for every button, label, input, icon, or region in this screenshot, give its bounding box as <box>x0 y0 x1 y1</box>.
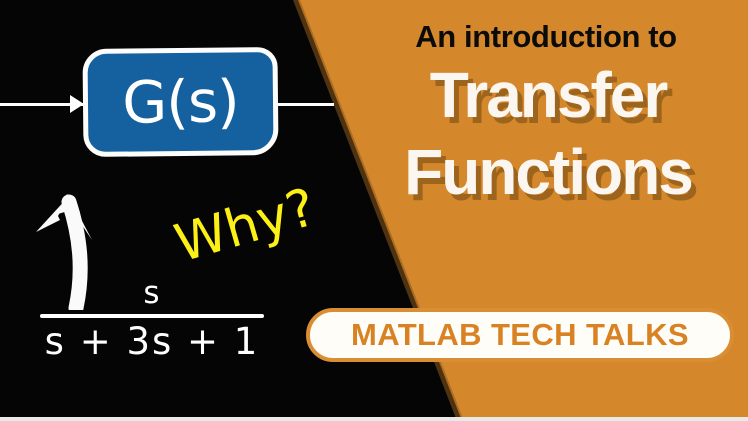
input-arrowhead-icon <box>70 95 84 113</box>
title-line-2: Functions <box>352 135 744 209</box>
thumbnail-canvas: G(s) Why? s s + 3s + 1 An introduction t… <box>0 0 748 421</box>
bottom-strip <box>0 417 748 421</box>
title-kicker: An introduction to <box>354 19 738 55</box>
transfer-function-fraction: s s + 3s + 1 <box>36 276 268 364</box>
fraction-numerator: s <box>36 276 268 310</box>
transfer-function-block-label: G(s) <box>82 47 278 157</box>
fraction-denominator: s + 3s + 1 <box>36 320 268 364</box>
series-badge-label: MATLAB TECH TALKS <box>351 317 689 353</box>
series-badge: MATLAB TECH TALKS <box>306 308 734 362</box>
output-signal-line <box>272 103 334 106</box>
fraction-bar <box>40 314 264 318</box>
title-line-1: Transfer <box>352 58 744 132</box>
